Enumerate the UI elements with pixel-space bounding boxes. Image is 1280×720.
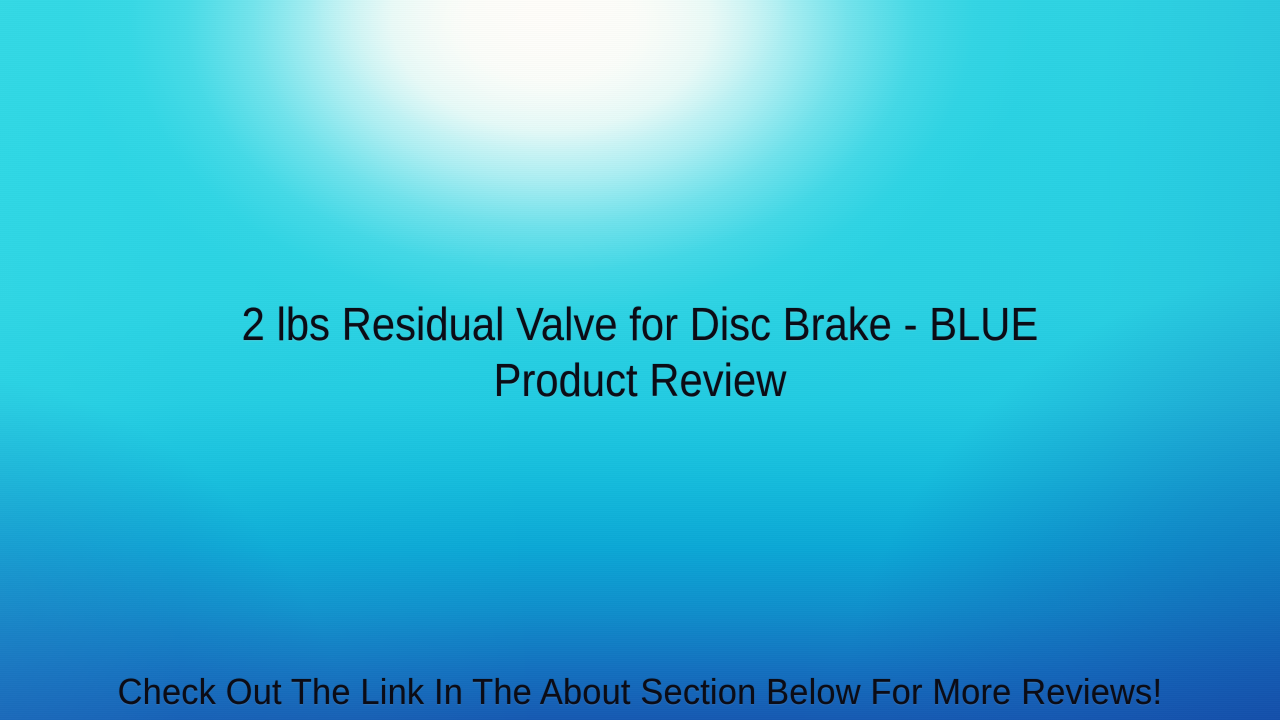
call-to-action-banner: Check Out The Link In The About Section …: [0, 670, 1280, 714]
page-title: 2 lbs Residual Valve for Disc Brake - BL…: [0, 296, 1280, 408]
call-to-action-text: Check Out The Link In The About Section …: [118, 670, 1163, 714]
title-line-1: 2 lbs Residual Valve for Disc Brake - BL…: [111, 296, 1168, 352]
title-card: 2 lbs Residual Valve for Disc Brake - BL…: [0, 0, 1280, 720]
title-line-2: Product Review: [111, 352, 1168, 408]
